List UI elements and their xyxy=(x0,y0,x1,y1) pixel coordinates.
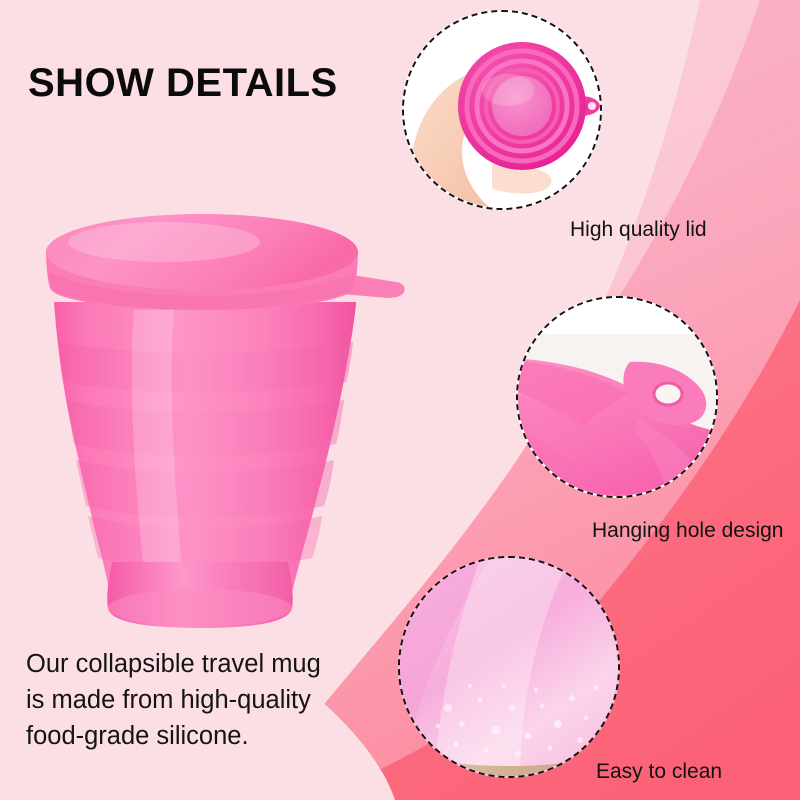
product-description: Our collapsible travel mug is made from … xyxy=(26,646,386,754)
mug-base-bottom-ellipse xyxy=(108,589,292,627)
page-title: SHOW DETAILS xyxy=(28,61,338,106)
product-detail-banner: SHOW DETAILS xyxy=(0,0,800,800)
cup-top-highlight xyxy=(482,74,534,106)
collapsible-mug-svg xyxy=(24,210,434,630)
mug-lid-highlight xyxy=(68,222,260,262)
cup-interior-droplets-icon xyxy=(400,558,620,778)
description-line-2: is made from high-quality xyxy=(26,682,386,718)
hanging-hole-closeup-icon xyxy=(518,298,718,498)
feature-inset-high-quality-lid xyxy=(402,10,602,210)
caption-easy-to-clean: Easy to clean xyxy=(596,760,722,784)
cup-hanging-hole xyxy=(588,102,596,110)
mug-lid xyxy=(46,214,405,310)
caption-high-quality-lid: High quality lid xyxy=(570,218,707,242)
mug-base xyxy=(107,562,293,628)
description-line-1: Our collapsible travel mug xyxy=(26,646,386,682)
description-line-3: food-grade silicone. xyxy=(26,718,386,754)
product-image-main xyxy=(24,210,434,630)
hand-holding-collapsed-cup-icon xyxy=(404,12,602,210)
caption-hanging-hole-design: Hanging hole design xyxy=(592,519,783,543)
feature-inset-hanging-hole xyxy=(516,296,718,498)
feature-inset-easy-to-clean xyxy=(398,556,620,778)
